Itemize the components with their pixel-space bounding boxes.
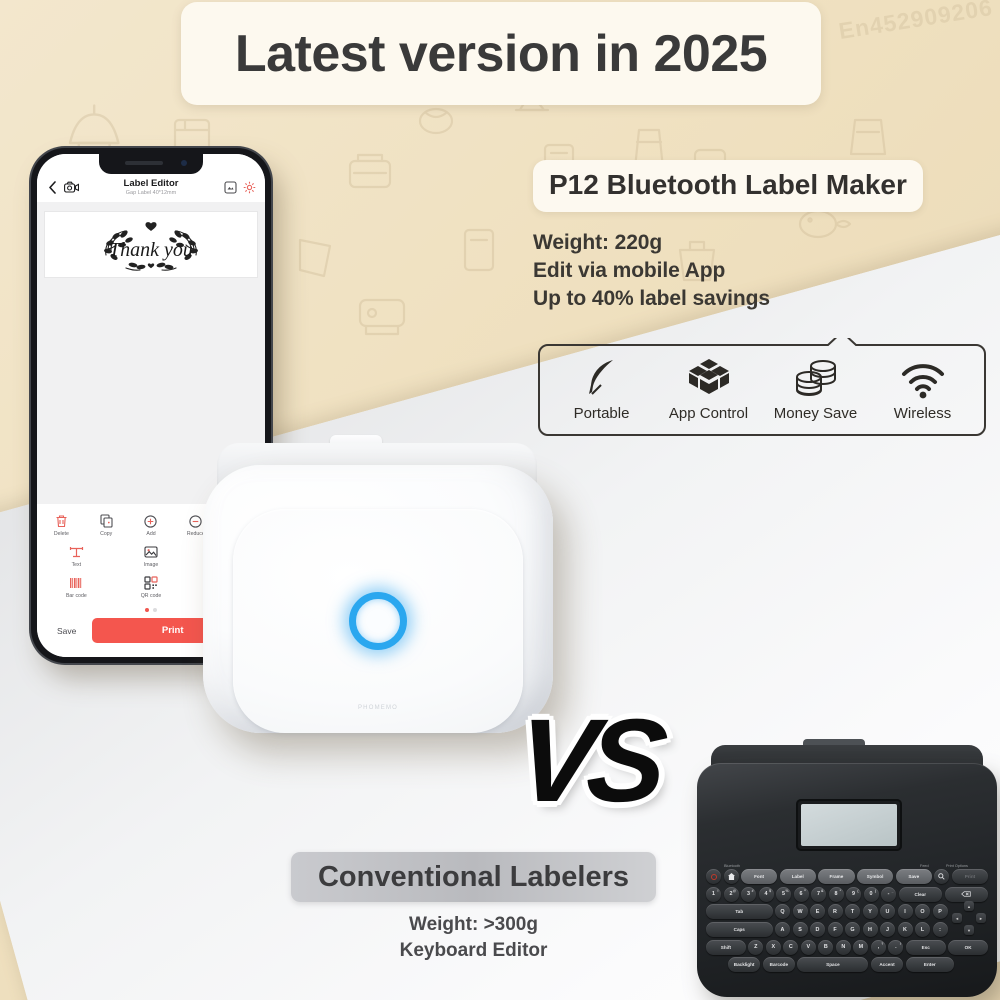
home-key[interactable] <box>724 869 739 884</box>
dpad-down-key[interactable]: ▼ <box>964 925 974 935</box>
key-minus[interactable]: -_ <box>881 887 896 902</box>
tool-copy[interactable]: Copy <box>84 510 129 541</box>
qrcode-icon <box>143 575 159 591</box>
backlight-key[interactable]: Backlight <box>728 957 760 972</box>
barcode-icon <box>68 575 84 591</box>
plus-icon <box>143 513 159 529</box>
label-key[interactable]: Label <box>780 869 816 884</box>
key-r[interactable]: R <box>828 904 843 919</box>
key-g[interactable]: G <box>845 922 860 937</box>
key-w[interactable]: W <box>793 904 808 919</box>
camera-icon[interactable] <box>64 180 79 195</box>
accent-key[interactable]: Accent <box>871 957 903 972</box>
page-dot-active[interactable] <box>145 608 149 612</box>
feature-portable: Portable <box>548 354 655 422</box>
tab-key[interactable]: Tab <box>706 904 773 919</box>
font-key[interactable]: Font <box>741 869 777 884</box>
key-v[interactable]: V <box>801 940 816 955</box>
page-dot[interactable] <box>153 608 157 612</box>
tool-delete[interactable]: Delete <box>39 510 84 541</box>
tool-label: Text <box>72 562 82 568</box>
key-u[interactable]: U <box>880 904 895 919</box>
app-subtitle: Gap Label 40*12mm <box>83 190 219 196</box>
key-5[interactable]: 5% <box>776 887 791 902</box>
template-icon[interactable] <box>223 180 238 195</box>
print-key[interactable]: Print <box>952 869 988 884</box>
key-b[interactable]: B <box>818 940 833 955</box>
gear-icon[interactable] <box>242 180 257 195</box>
copy-icon <box>98 513 114 529</box>
power-key[interactable] <box>706 869 721 884</box>
key-d[interactable]: D <box>810 922 825 937</box>
page-title: Latest version in 2025 <box>235 24 767 84</box>
conventional-labeler-device: Bluetooth Feed Print Options Font Label … <box>697 745 997 997</box>
dpad-control: ▲ ◄ ► ▼ <box>952 901 986 935</box>
keyboard-row-a: Caps A S D F G H J K L : <box>706 922 988 937</box>
coins-icon <box>794 354 838 400</box>
key-6[interactable]: 6^ <box>794 887 809 902</box>
wifi-icon <box>900 354 946 400</box>
key-2[interactable]: 2@ <box>724 887 739 902</box>
space-key[interactable]: Space <box>797 957 868 972</box>
tool-label: Delete <box>54 531 69 537</box>
chevron-left-icon[interactable] <box>45 180 60 195</box>
keyboard-number-row: 1! 2@ 3# 4$ 5% 6^ 7& 8* 9( 0) -_ Clear <box>706 887 988 902</box>
key-k[interactable]: K <box>898 922 913 937</box>
app-title-block: Label Editor Gap Label 40*12mm <box>83 178 219 196</box>
key-a[interactable]: A <box>775 922 790 937</box>
feather-icon <box>587 354 617 400</box>
tool-label: QR code <box>141 593 161 599</box>
conventional-badge: Conventional Labelers <box>291 852 656 902</box>
key-h[interactable]: H <box>863 922 878 937</box>
key-n[interactable]: N <box>836 940 851 955</box>
conventional-title: Conventional Labelers <box>318 861 629 894</box>
key-4[interactable]: 4$ <box>759 887 774 902</box>
key-j[interactable]: J <box>880 922 895 937</box>
key-0[interactable]: 0) <box>864 887 879 902</box>
feature-money-save: Money Save <box>762 354 869 422</box>
product-info-column: P12 Bluetooth Label Maker Weight: 220g E… <box>533 160 988 313</box>
key-9[interactable]: 9( <box>846 887 861 902</box>
labeler-body: Bluetooth Feed Print Options Font Label … <box>697 763 997 997</box>
key-1[interactable]: 1! <box>706 887 721 902</box>
brand-mark: PHOMEMO <box>358 705 398 711</box>
spec-savings: Up to 40% label savings <box>533 285 988 313</box>
key-c[interactable]: C <box>783 940 798 955</box>
key-3[interactable]: 3# <box>741 887 756 902</box>
product-title: P12 Bluetooth Label Maker <box>549 169 907 200</box>
spec-app: Edit via mobile App <box>533 257 988 285</box>
speaker-slot <box>125 161 163 165</box>
vs-graphic: VS <box>480 693 695 828</box>
feature-highlight-box: Portable App Control <box>538 338 986 436</box>
key-comma[interactable]: ,? <box>871 940 886 955</box>
key-l[interactable]: L <box>915 922 930 937</box>
front-camera <box>181 160 187 166</box>
feature-app-control: App Control <box>655 354 762 422</box>
power-button-ring[interactable] <box>349 592 407 650</box>
cube-icon <box>688 354 730 400</box>
poster-stage: En452909206 Latest version in 2025 P12 B… <box>0 0 1000 1000</box>
conventional-spec-weight: Weight: >300g <box>291 912 656 938</box>
enter-key[interactable]: Enter <box>906 957 954 972</box>
barcode-key[interactable]: Barcode <box>763 957 795 972</box>
key-q[interactable]: Q <box>775 904 790 919</box>
headline-banner: Latest version in 2025 <box>181 2 821 105</box>
conventional-spec-editor: Keyboard Editor <box>291 938 656 964</box>
key-e[interactable]: E <box>810 904 825 919</box>
dpad-left-key[interactable]: ◄ <box>952 913 962 923</box>
backspace-key[interactable] <box>945 887 989 902</box>
key-x[interactable]: X <box>766 940 781 955</box>
spec-weight: Weight: 220g <box>533 229 988 257</box>
symbol-key[interactable]: Symbol <box>857 869 893 884</box>
bluetooth-caption: Bluetooth <box>724 864 740 868</box>
keyboard-function-row: Bluetooth Feed Print Options Font Label … <box>706 869 988 884</box>
tool-qrcode[interactable]: QR code <box>114 572 189 603</box>
trash-icon <box>53 513 69 529</box>
frame-key[interactable]: Frame <box>818 869 854 884</box>
product-title-banner: P12 Bluetooth Label Maker <box>533 160 923 212</box>
feed-key[interactable] <box>934 869 949 884</box>
conventional-spec-list: Weight: >300g Keyboard Editor <box>291 912 656 963</box>
caps-key[interactable]: Caps <box>706 922 773 937</box>
key-p[interactable]: P <box>933 904 948 919</box>
tool-image[interactable]: Image <box>114 541 189 572</box>
key-7[interactable]: 7& <box>811 887 826 902</box>
keyboard-row-z: Shift Z X C V B N M ,? ./ Esc OK <box>706 940 988 955</box>
feature-label: App Control <box>669 405 748 422</box>
keyboard-row-bottom: Backlight Barcode Space Accent Enter <box>706 957 988 972</box>
key-t[interactable]: T <box>845 904 860 919</box>
dpad-up-key[interactable]: ▲ <box>964 901 974 911</box>
key-m[interactable]: M <box>853 940 868 955</box>
key-z[interactable]: Z <box>748 940 763 955</box>
lcd-display <box>801 804 897 846</box>
key-f[interactable]: F <box>828 922 843 937</box>
feature-wireless: Wireless <box>869 354 976 422</box>
esc-key[interactable]: Esc <box>906 940 946 955</box>
label-text: Thank you <box>109 239 193 261</box>
feature-label: Money Save <box>774 405 857 422</box>
print-options-caption: Print Options <box>946 864 968 868</box>
key-period[interactable]: ./ <box>888 940 903 955</box>
save-key[interactable]: Save <box>896 869 932 884</box>
ok-key[interactable]: OK <box>948 940 988 955</box>
key-s[interactable]: S <box>793 922 808 937</box>
labeler-keyboard: Bluetooth Feed Print Options Font Label … <box>706 869 988 1000</box>
phone-notch <box>99 154 203 174</box>
tool-label: Add <box>146 531 155 537</box>
tool-label: Bar code <box>66 593 87 599</box>
save-button[interactable]: Save <box>49 621 84 641</box>
vs-label: VS <box>513 702 663 820</box>
minus-icon <box>188 513 204 529</box>
label-preview-card[interactable]: Thank you <box>45 212 257 277</box>
tool-barcode[interactable]: Bar code <box>39 572 114 603</box>
image-icon <box>143 544 159 560</box>
text-icon <box>68 544 84 560</box>
labeler-screen <box>796 799 902 851</box>
wreath-icon: Thank you <box>81 216 221 274</box>
key-colon[interactable]: : <box>933 922 948 937</box>
shift-key[interactable]: Shift <box>706 940 746 955</box>
tool-add[interactable]: Add <box>129 510 174 541</box>
p12-printer-device: PHOMEMO <box>203 443 553 733</box>
key-8[interactable]: 8* <box>829 887 844 902</box>
key-y[interactable]: Y <box>863 904 878 919</box>
clear-key[interactable]: Clear <box>899 887 943 902</box>
keyboard-row-q: Tab Q W E R T Y U I O P <box>706 904 988 919</box>
dpad-right-key[interactable]: ► <box>976 913 986 923</box>
tool-label: Image <box>144 562 158 568</box>
tool-text[interactable]: Text <box>39 541 114 572</box>
key-i[interactable]: I <box>898 904 913 919</box>
feed-caption: Feed <box>920 864 929 868</box>
feature-label: Portable <box>574 405 630 422</box>
app-title: Label Editor <box>83 178 219 189</box>
product-spec-list: Weight: 220g Edit via mobile App Up to 4… <box>533 229 988 313</box>
tool-label: Copy <box>100 531 112 537</box>
key-o[interactable]: O <box>915 904 930 919</box>
feature-label: Wireless <box>894 405 952 422</box>
